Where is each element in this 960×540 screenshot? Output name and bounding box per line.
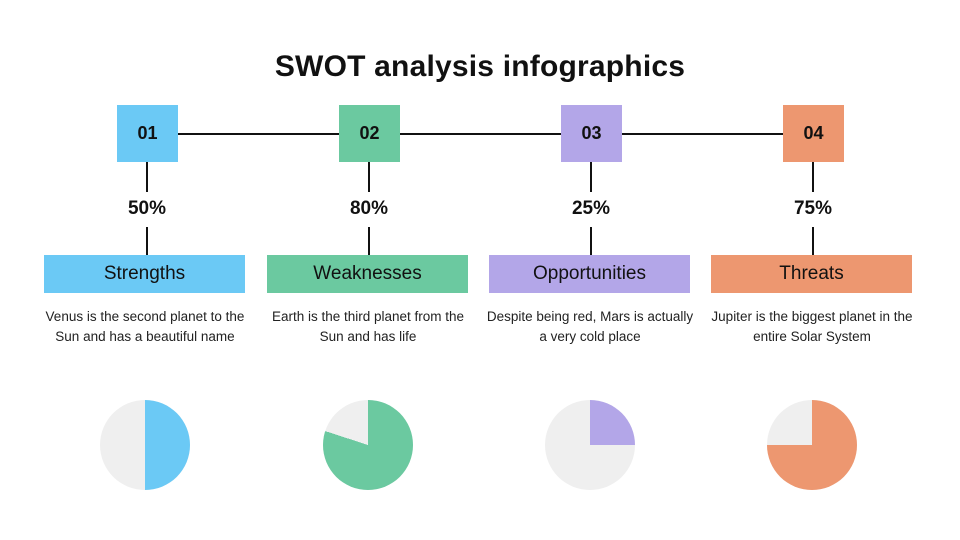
pie-chart-weaknesses <box>323 400 413 490</box>
connector-percent-to-bar-1 <box>146 227 148 255</box>
description-strengths: Venus is the second planet to the Sun an… <box>40 307 250 347</box>
category-bar-label: Threats <box>779 263 843 285</box>
number-box-label: 02 <box>359 123 379 144</box>
pie-chart-opportunities <box>545 400 635 490</box>
connector-percent-to-bar-4 <box>812 227 814 255</box>
connector-box-to-percent-1 <box>146 162 148 192</box>
number-box-03[interactable]: 03 <box>561 105 622 162</box>
axis-segment-2-3 <box>400 133 561 135</box>
percent-label-2: 80% <box>309 198 429 220</box>
number-box-01[interactable]: 01 <box>117 105 178 162</box>
connector-box-to-percent-4 <box>812 162 814 192</box>
pie-chart-threats <box>767 400 857 490</box>
category-bar-strengths[interactable]: Strengths <box>44 255 245 293</box>
category-bar-label: Strengths <box>104 263 185 285</box>
pie-slice-weaknesses <box>323 400 413 490</box>
pie-slice-strengths <box>100 400 190 490</box>
connector-percent-to-bar-3 <box>590 227 592 255</box>
axis-segment-3-4 <box>622 133 783 135</box>
description-threats: Jupiter is the biggest planet in the ent… <box>707 307 917 347</box>
category-bar-threats[interactable]: Threats <box>711 255 912 293</box>
pie-chart-strengths <box>100 400 190 490</box>
connector-box-to-percent-3 <box>590 162 592 192</box>
page-title: SWOT analysis infographics <box>0 50 960 84</box>
infographic-canvas: SWOT analysis infographics 01 50% Streng… <box>0 0 960 540</box>
number-box-04[interactable]: 04 <box>783 105 844 162</box>
connector-percent-to-bar-2 <box>368 227 370 255</box>
description-weaknesses: Earth is the third planet from the Sun a… <box>263 307 473 347</box>
number-box-label: 04 <box>803 123 823 144</box>
axis-segment-1-2 <box>178 133 339 135</box>
category-bar-weaknesses[interactable]: Weaknesses <box>267 255 468 293</box>
number-box-label: 03 <box>581 123 601 144</box>
percent-label-1: 50% <box>87 198 207 220</box>
number-box-02[interactable]: 02 <box>339 105 400 162</box>
connector-box-to-percent-2 <box>368 162 370 192</box>
percent-label-4: 75% <box>753 198 873 220</box>
number-box-label: 01 <box>137 123 157 144</box>
category-bar-label: Weaknesses <box>313 263 421 285</box>
description-opportunities: Despite being red, Mars is actually a ve… <box>485 307 695 347</box>
pie-slice-threats <box>767 400 857 490</box>
percent-label-3: 25% <box>531 198 651 220</box>
category-bar-opportunities[interactable]: Opportunities <box>489 255 690 293</box>
category-bar-label: Opportunities <box>533 263 646 285</box>
pie-slice-opportunities <box>545 400 635 490</box>
